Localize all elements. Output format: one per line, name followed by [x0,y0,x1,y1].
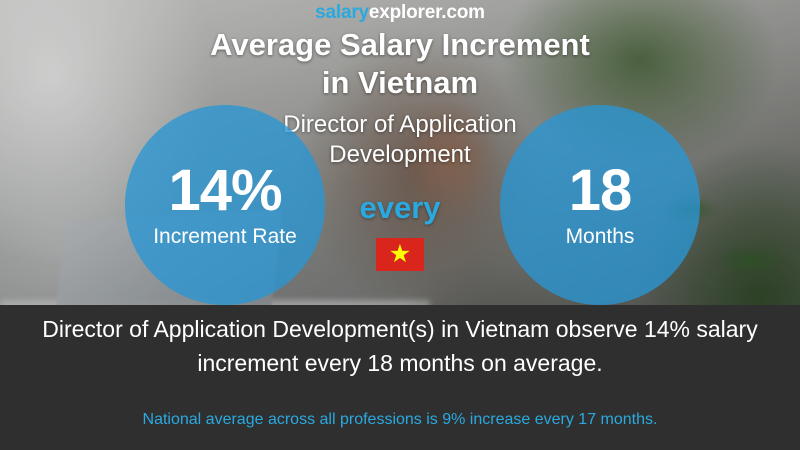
logo-text-explorer: explorer [369,2,441,23]
title-line-2: in Vietnam [0,64,800,102]
months-label: Months [566,225,635,249]
increment-rate-circle: 14% Increment Rate [125,105,325,305]
increment-rate-label: Increment Rate [153,225,297,249]
site-logo[interactable]: salaryexplorer.com [0,2,800,24]
vietnam-flag-icon: ★ [376,238,424,271]
title-line-1: Average Salary Increment [0,26,800,64]
page-title: Average Salary Increment in Vietnam [0,26,800,102]
increment-rate-value: 14% [168,161,281,221]
logo-text-salary: salary [315,2,369,23]
flag-star-icon: ★ [389,242,411,267]
months-value: 18 [569,161,632,221]
footnote-text: National average across all professions … [0,410,800,430]
infographic-canvas: salaryexplorer.com Average Salary Increm… [0,0,800,450]
logo-text-dotcom: .com [441,2,485,23]
summary-text: Director of Application Development(s) i… [0,312,800,380]
months-circle: 18 Months [500,105,700,305]
